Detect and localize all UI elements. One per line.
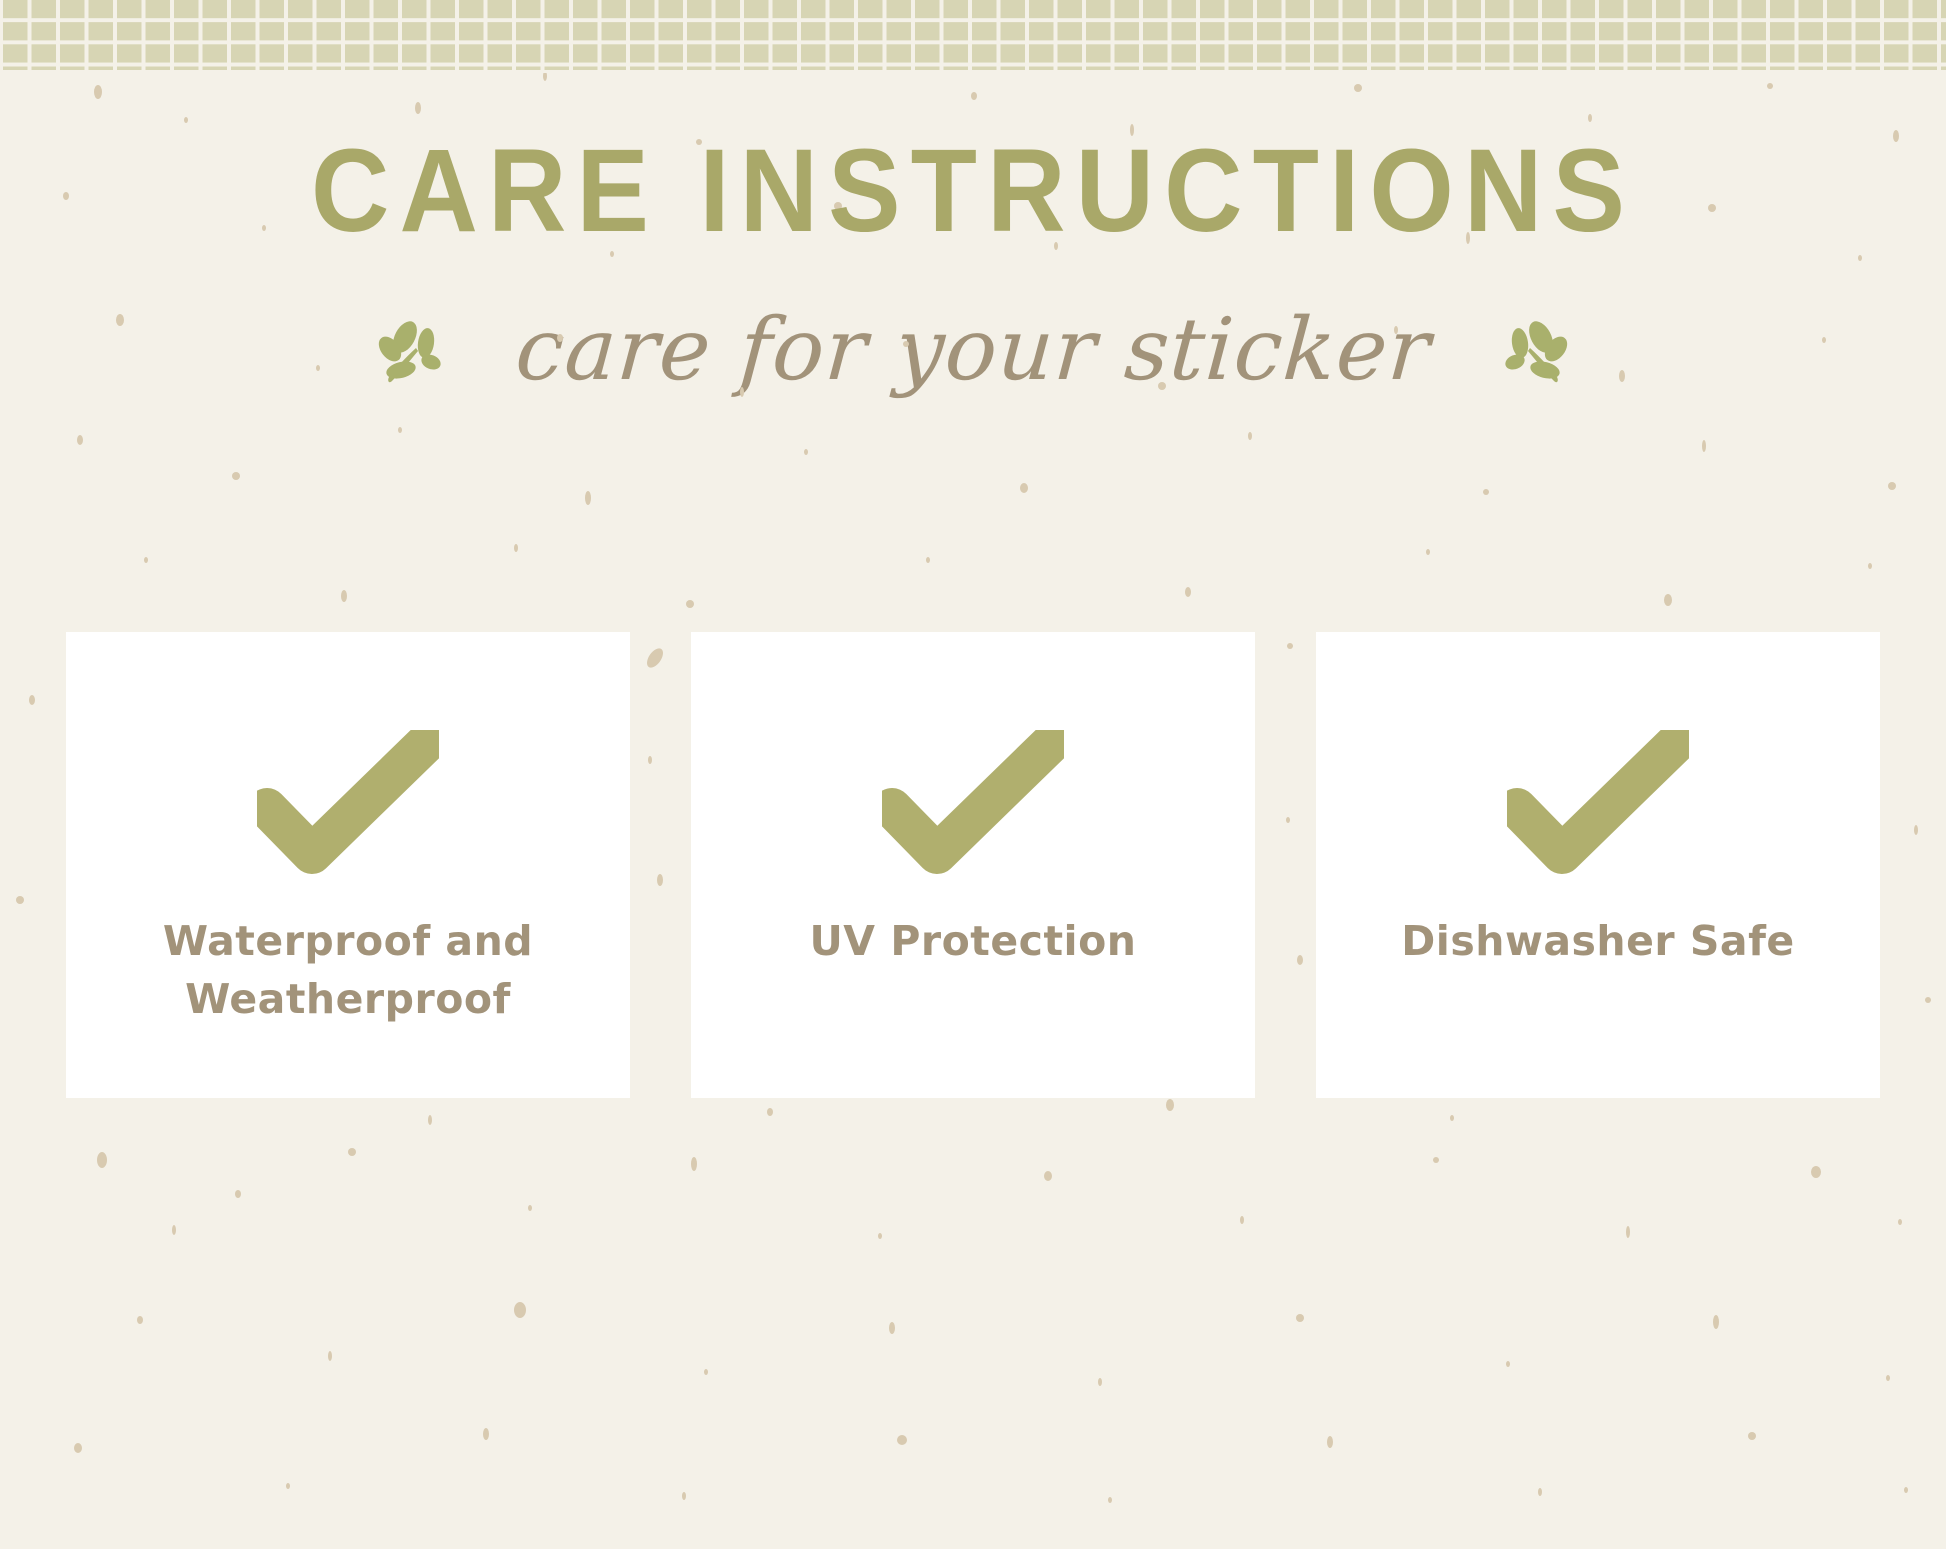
care-card-label: UV Protection: [730, 912, 1215, 970]
page-title: CARE INSTRUCTIONS: [78, 132, 1868, 250]
checkered-grid-band: [0, 0, 1946, 72]
checkmark-icon: [882, 730, 1064, 876]
checkmark-icon: [257, 730, 439, 876]
leaf-sprig-left-icon: [374, 311, 446, 389]
care-feature-cards: Waterproof and Weatherproof UV Protectio…: [66, 632, 1880, 1098]
care-card-label: Waterproof and Weatherproof: [105, 912, 590, 1028]
checkmark-icon: [1507, 730, 1689, 876]
care-card-label: Dishwasher Safe: [1355, 912, 1840, 970]
care-card-waterproof: Waterproof and Weatherproof: [66, 632, 630, 1098]
care-card-dishwasher-safe: Dishwasher Safe: [1316, 632, 1880, 1098]
subtitle-row: care for your sticker: [0, 300, 1946, 400]
leaf-sprig-right-icon: [1500, 311, 1572, 389]
page-subtitle: care for your sticker: [512, 300, 1434, 400]
care-card-uv-protection: UV Protection: [691, 632, 1255, 1098]
care-instructions-poster: CARE INSTRUCTIONS care for your sticker: [0, 0, 1946, 1549]
grid-band-edge: [0, 70, 1946, 73]
